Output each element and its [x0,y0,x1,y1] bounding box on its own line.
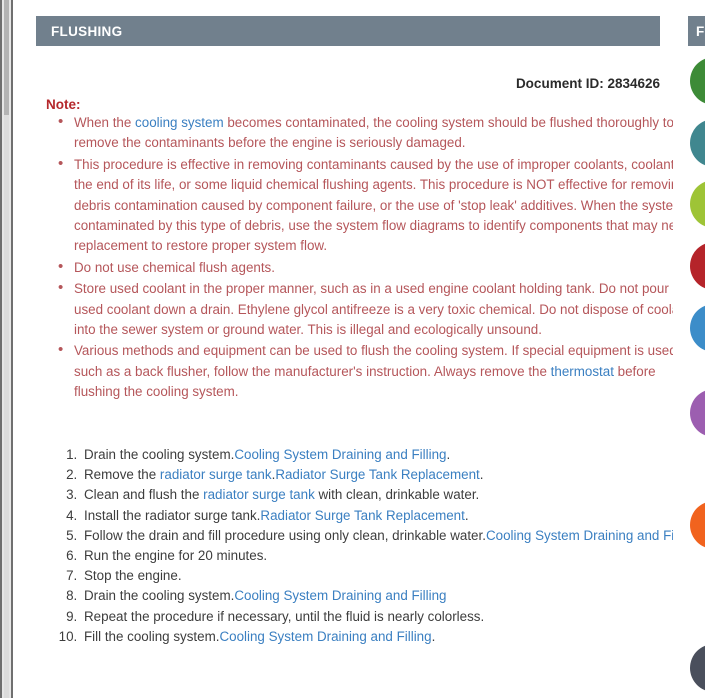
note-bullet-item: Store used coolant in the proper manner,… [74,279,699,340]
procedure-step-item: Clean and flush the radiator surge tank … [81,485,705,505]
circle-green[interactable] [690,57,705,105]
text-run: Drain the cooling system. [84,447,234,462]
circle-blue[interactable] [690,304,705,352]
vertical-scrollbar[interactable] [0,0,13,698]
inline-link[interactable]: Cooling System Draining and Filling [234,588,446,603]
circle-red[interactable] [690,242,705,290]
note-bullet-item: Do not use chemical flush agents. [74,258,699,278]
text-run: . [446,447,450,462]
procedure-step-item: Repeat the procedure if necessary, until… [81,607,705,627]
note-bullet-item: When the cooling system becomes contamin… [74,113,699,154]
circle-lime[interactable] [690,180,705,228]
procedure-step-item: Drain the cooling system.Cooling System … [81,586,705,606]
procedure-step-item: Follow the drain and fill procedure usin… [81,526,705,546]
inline-link[interactable]: Cooling System Draining and Filling [486,528,698,543]
procedure-step-item: Remove the radiator surge tank.Radiator … [81,465,705,485]
inline-link[interactable]: Radiator Surge Tank Replacement [260,508,464,523]
inline-link[interactable]: thermostat [551,364,614,379]
inline-link[interactable]: Cooling System Draining and Filling [219,629,431,644]
scrollbar-track[interactable] [4,115,9,698]
inline-link[interactable]: radiator surge tank [160,467,272,482]
right-side-panel: F [673,0,705,698]
text-run: . [432,629,436,644]
document-id-label: Document ID: 2834626 [516,76,660,91]
note-bullet-item: This procedure is effective in removing … [74,155,699,257]
circle-orange[interactable] [690,501,705,549]
text-run: Do not use chemical flush agents. [74,260,275,275]
circle-teal[interactable] [690,119,705,167]
text-run: Store used coolant in the proper manner,… [74,281,690,337]
text-run: Drain the cooling system. [84,588,234,603]
text-run: . [480,467,484,482]
text-run: Run the engine for 20 minutes. [84,548,267,563]
procedure-step-item: Install the radiator surge tank.Radiator… [81,506,705,526]
text-run: Follow the drain and fill procedure usin… [84,528,486,543]
circle-dark-slate[interactable] [690,644,705,692]
scrollbar-thumb[interactable] [4,0,9,116]
text-run: Stop the engine. [84,568,182,583]
inline-link[interactable]: radiator surge tank [203,487,315,502]
text-run: Fill the cooling system. [84,629,219,644]
text-run: with clean, drinkable water. [315,487,480,502]
text-run: Clean and flush the [84,487,203,502]
section-header-title: FLUSHING [51,24,122,39]
text-run: This procedure is effective in removing … [74,157,698,254]
note-bullet-item: Various methods and equipment can be use… [74,341,699,402]
text-run: Remove the [84,467,160,482]
section-header-flushing: FLUSHING [36,16,660,46]
text-run: When the [74,115,135,130]
document-panel: FLUSHING Document ID: 2834626 Note: When… [13,0,673,698]
text-run: Install the radiator surge tank. [84,508,260,523]
procedure-step-item: Drain the cooling system.Cooling System … [81,445,705,465]
note-bullet-list: When the cooling system becomes contamin… [46,113,699,404]
inline-link[interactable]: cooling system [135,115,224,130]
inline-link[interactable]: Radiator Surge Tank Replacement [275,467,479,482]
procedure-step-item: Fill the cooling system.Cooling System D… [81,627,705,647]
procedure-step-list: Drain the cooling system.Cooling System … [46,445,705,647]
circle-purple[interactable] [690,389,705,437]
procedure-step-item: Stop the engine. [81,566,705,586]
inline-link[interactable]: Cooling System Draining and Filling [234,447,446,462]
text-run: . [465,508,469,523]
procedure-step-item: Run the engine for 20 minutes. [81,546,705,566]
section-header-right: F [688,16,705,46]
text-run: Repeat the procedure if necessary, until… [84,609,484,624]
section-header-right-title: F [696,24,705,39]
note-label: Note: [46,97,81,112]
